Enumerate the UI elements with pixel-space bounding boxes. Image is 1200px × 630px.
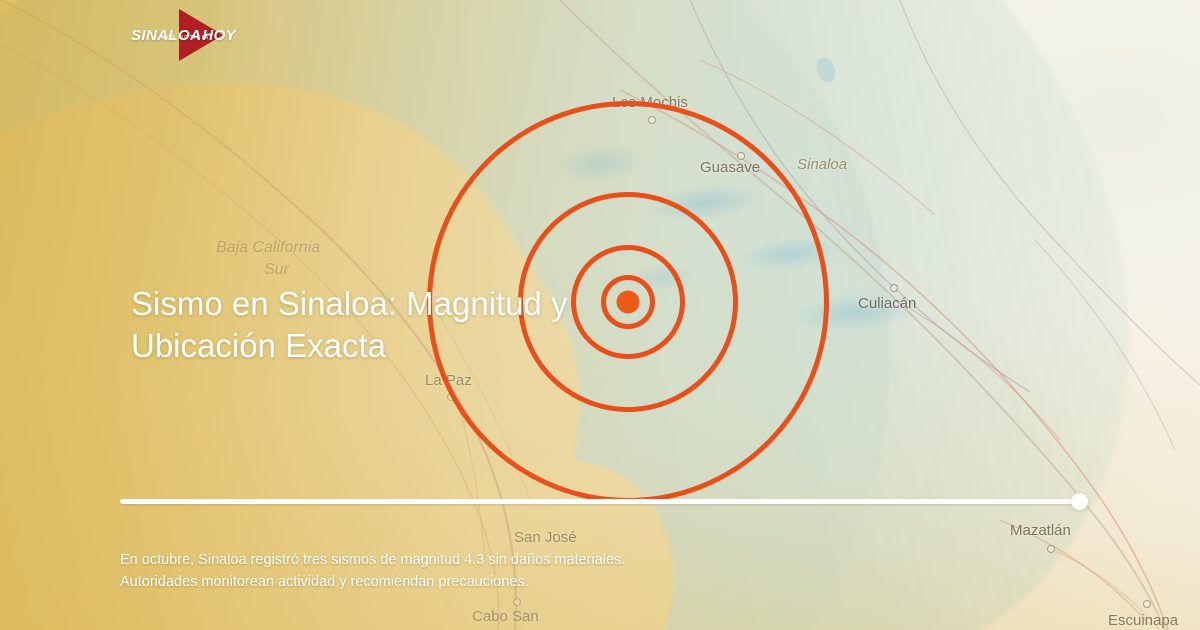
progress-bar-handle[interactable]: [1071, 493, 1088, 510]
subtitle-line-2: Autoridades monitorean actividad y recom…: [120, 571, 880, 593]
social-share-card: Los Mochis Guasave Sinaloa Culiacán Maza…: [0, 0, 1200, 630]
headline-line-2: Ubicación Exacta: [131, 325, 831, 367]
progress-bar-track[interactable]: [120, 499, 1080, 504]
page-title: Sismo en Sinaloa: Magnitud y Ubicación E…: [131, 283, 831, 367]
logo-tagline: LOS NOTICIA: [162, 35, 210, 41]
subtitle: En octubre, Sinaloa registró tres sismos…: [120, 549, 880, 593]
subtitle-line-1: En octubre, Sinaloa registró tres sismos…: [120, 549, 880, 571]
headline-line-1: Sismo en Sinaloa: Magnitud y: [131, 283, 831, 325]
sinaloahoy-logo[interactable]: SINALOAHOY LOS NOTICIA: [131, 18, 236, 52]
